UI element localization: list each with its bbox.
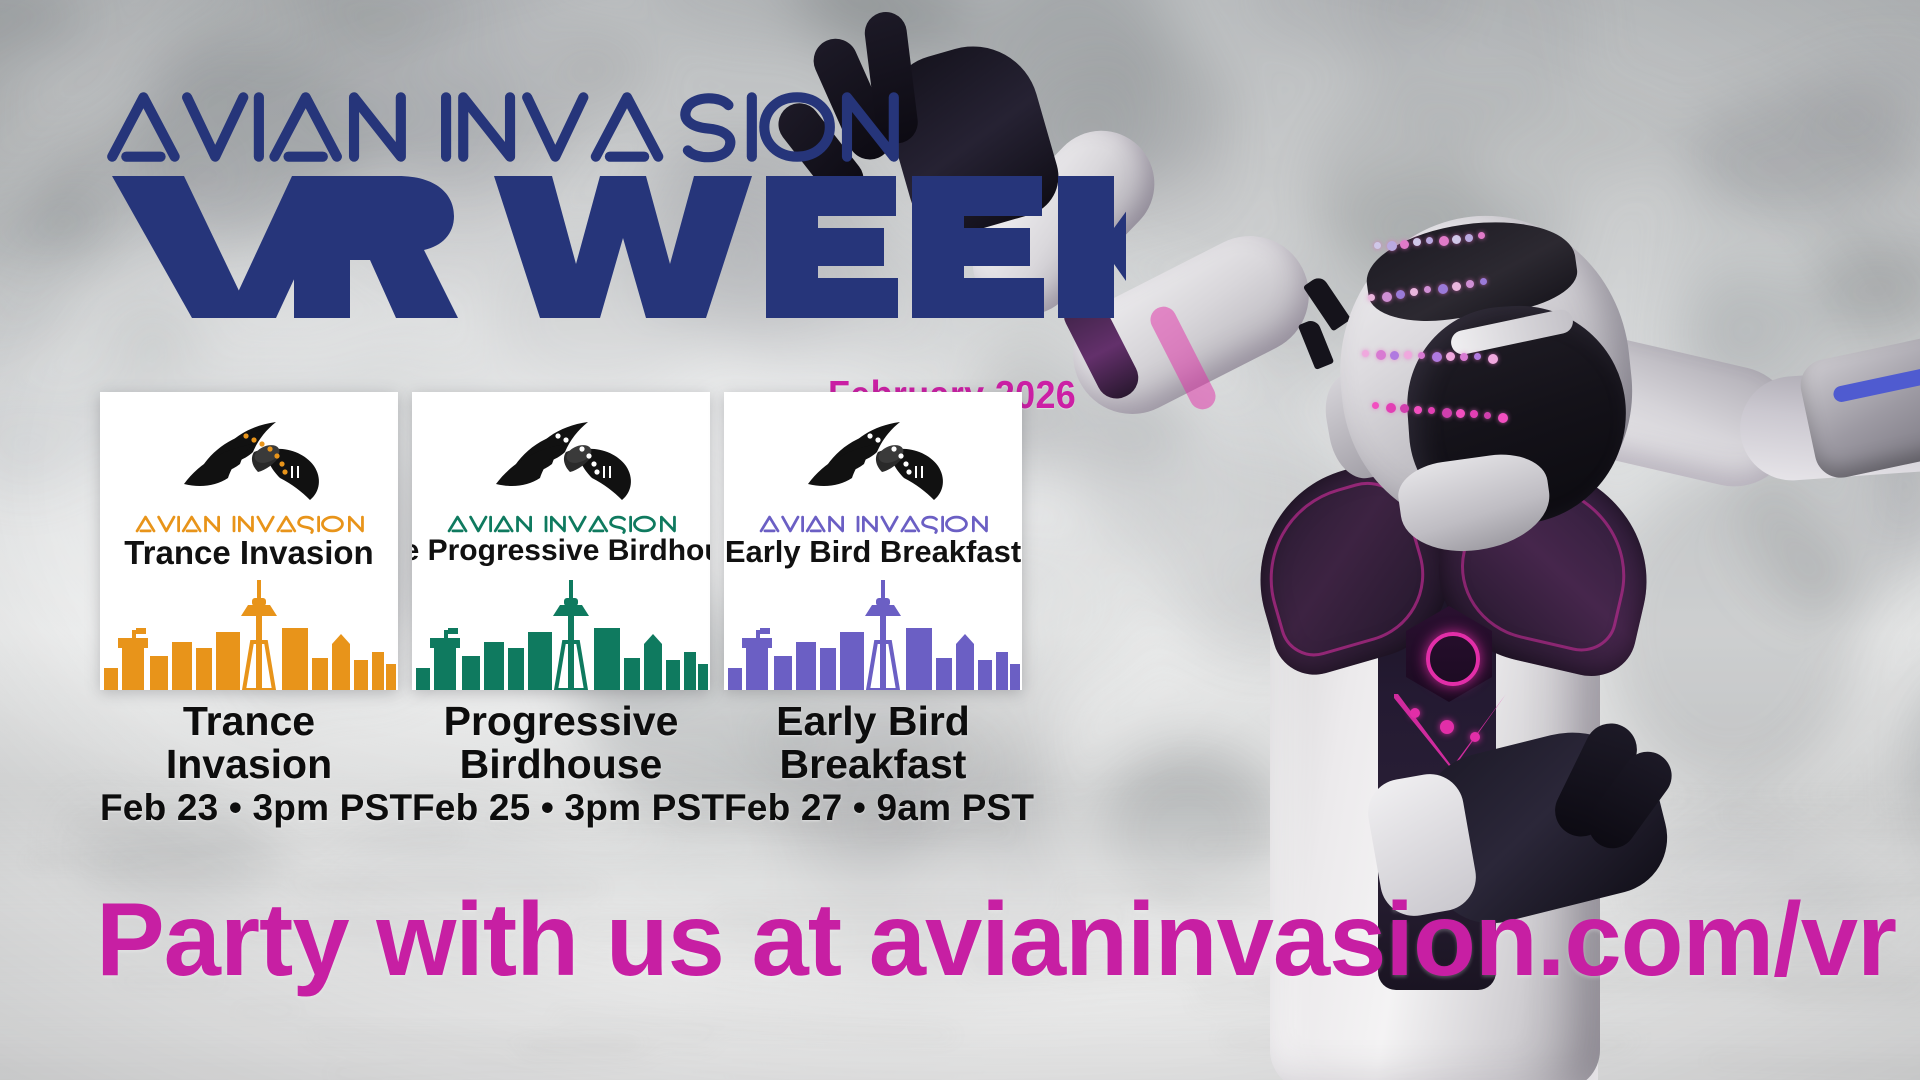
- avatar-helmet-led: [1442, 408, 1452, 418]
- event-captions: Trance Invasion Feb 23 • 3pm PST Progres…: [100, 700, 1022, 826]
- avatar-helmet-led: [1432, 352, 1442, 362]
- avatar-helmet-led: [1452, 282, 1461, 291]
- avatar-glow-dot: [1440, 720, 1454, 734]
- avatar-helmet-led: [1400, 240, 1409, 249]
- cta-url-text[interactable]: Party with us at avianinvasion.com/vr: [96, 888, 1896, 992]
- avatar-helmet-led: [1460, 353, 1468, 361]
- title-avian-invasion: [106, 88, 1166, 166]
- avatar-helmet-led: [1488, 354, 1498, 364]
- caption-date: Feb 23 • 3pm PST: [100, 789, 398, 826]
- avatar-helmet-led: [1466, 280, 1474, 288]
- avatar-helmet-led: [1424, 286, 1431, 293]
- caption-early-bird-breakfast: Early Bird Breakfast Feb 27 • 9am PST: [724, 700, 1022, 826]
- avatar-helmet-led: [1396, 290, 1405, 299]
- avatar-helmet-led: [1374, 242, 1381, 249]
- card-brandline-progressive: [446, 514, 677, 534]
- event-card-early-bird-breakfast[interactable]: Early Bird Breakfast: [724, 392, 1022, 690]
- avatar-helmet-led: [1390, 351, 1399, 360]
- title-lockup: February 2026: [106, 88, 1166, 322]
- caption-progressive-birdhouse: Progressive Birdhouse Feb 25 • 3pm PST: [412, 700, 710, 826]
- avatar-helmet-led: [1387, 241, 1397, 251]
- caption-date: Feb 27 • 9am PST: [724, 789, 1022, 826]
- avatar-helmet-led: [1438, 284, 1448, 294]
- avatar-helmet-led: [1372, 402, 1379, 409]
- card-subtitle-early-bird: Early Bird Breakfast: [725, 536, 1021, 567]
- avatar-helmet-led: [1439, 236, 1449, 246]
- card-brandline-early-bird: [758, 514, 989, 534]
- avian-bird-mask-logo-icon: [466, 408, 656, 512]
- caption-trance-invasion: Trance Invasion Feb 23 • 3pm PST: [100, 700, 398, 826]
- caption-title: Trance Invasion: [100, 700, 398, 785]
- seattle-skyline-icon: [412, 572, 710, 690]
- avatar-helmet-led: [1368, 294, 1375, 301]
- avian-bird-mask-logo-icon: [778, 408, 968, 512]
- event-card-trance-invasion[interactable]: Trance Invasion: [100, 392, 398, 690]
- avatar-helmet-led: [1480, 278, 1487, 285]
- seattle-skyline-icon: [724, 572, 1022, 690]
- card-subtitle-progressive: The Progressive Birdhouse: [412, 536, 710, 566]
- avatar-helmet-led: [1382, 292, 1392, 302]
- caption-title: Progressive Birdhouse: [412, 700, 710, 785]
- avatar-glow-dot: [1410, 708, 1420, 718]
- title-vr-week: [106, 172, 1166, 322]
- avatar-helmet-led: [1452, 235, 1461, 244]
- avatar-glow-dot: [1470, 732, 1480, 742]
- avatar-helmet-led: [1484, 412, 1491, 419]
- event-cards: Trance Invasion: [100, 392, 1022, 690]
- avatar-helmet-led: [1498, 413, 1508, 423]
- avatar-helmet-led: [1414, 406, 1422, 414]
- event-card-progressive-birdhouse[interactable]: The Progressive Birdhouse: [412, 392, 710, 690]
- avatar-helmet-led: [1465, 234, 1473, 242]
- card-subtitle-trance: Trance Invasion: [124, 536, 373, 569]
- card-brandline-trance: [134, 514, 365, 534]
- avian-bird-mask-logo-icon: [154, 408, 344, 512]
- seattle-skyline-icon: [100, 572, 398, 690]
- avatar-helmet-led: [1428, 407, 1435, 414]
- caption-date: Feb 25 • 3pm PST: [412, 789, 710, 826]
- avatar-chest-ring-icon: [1426, 632, 1480, 686]
- poster: February 2026: [0, 0, 1920, 1080]
- avatar-helmet-led: [1410, 288, 1418, 296]
- avatar-helmet-led: [1418, 352, 1425, 359]
- caption-title: Early Bird Breakfast: [724, 700, 1022, 785]
- avatar-helmet-led: [1362, 350, 1369, 357]
